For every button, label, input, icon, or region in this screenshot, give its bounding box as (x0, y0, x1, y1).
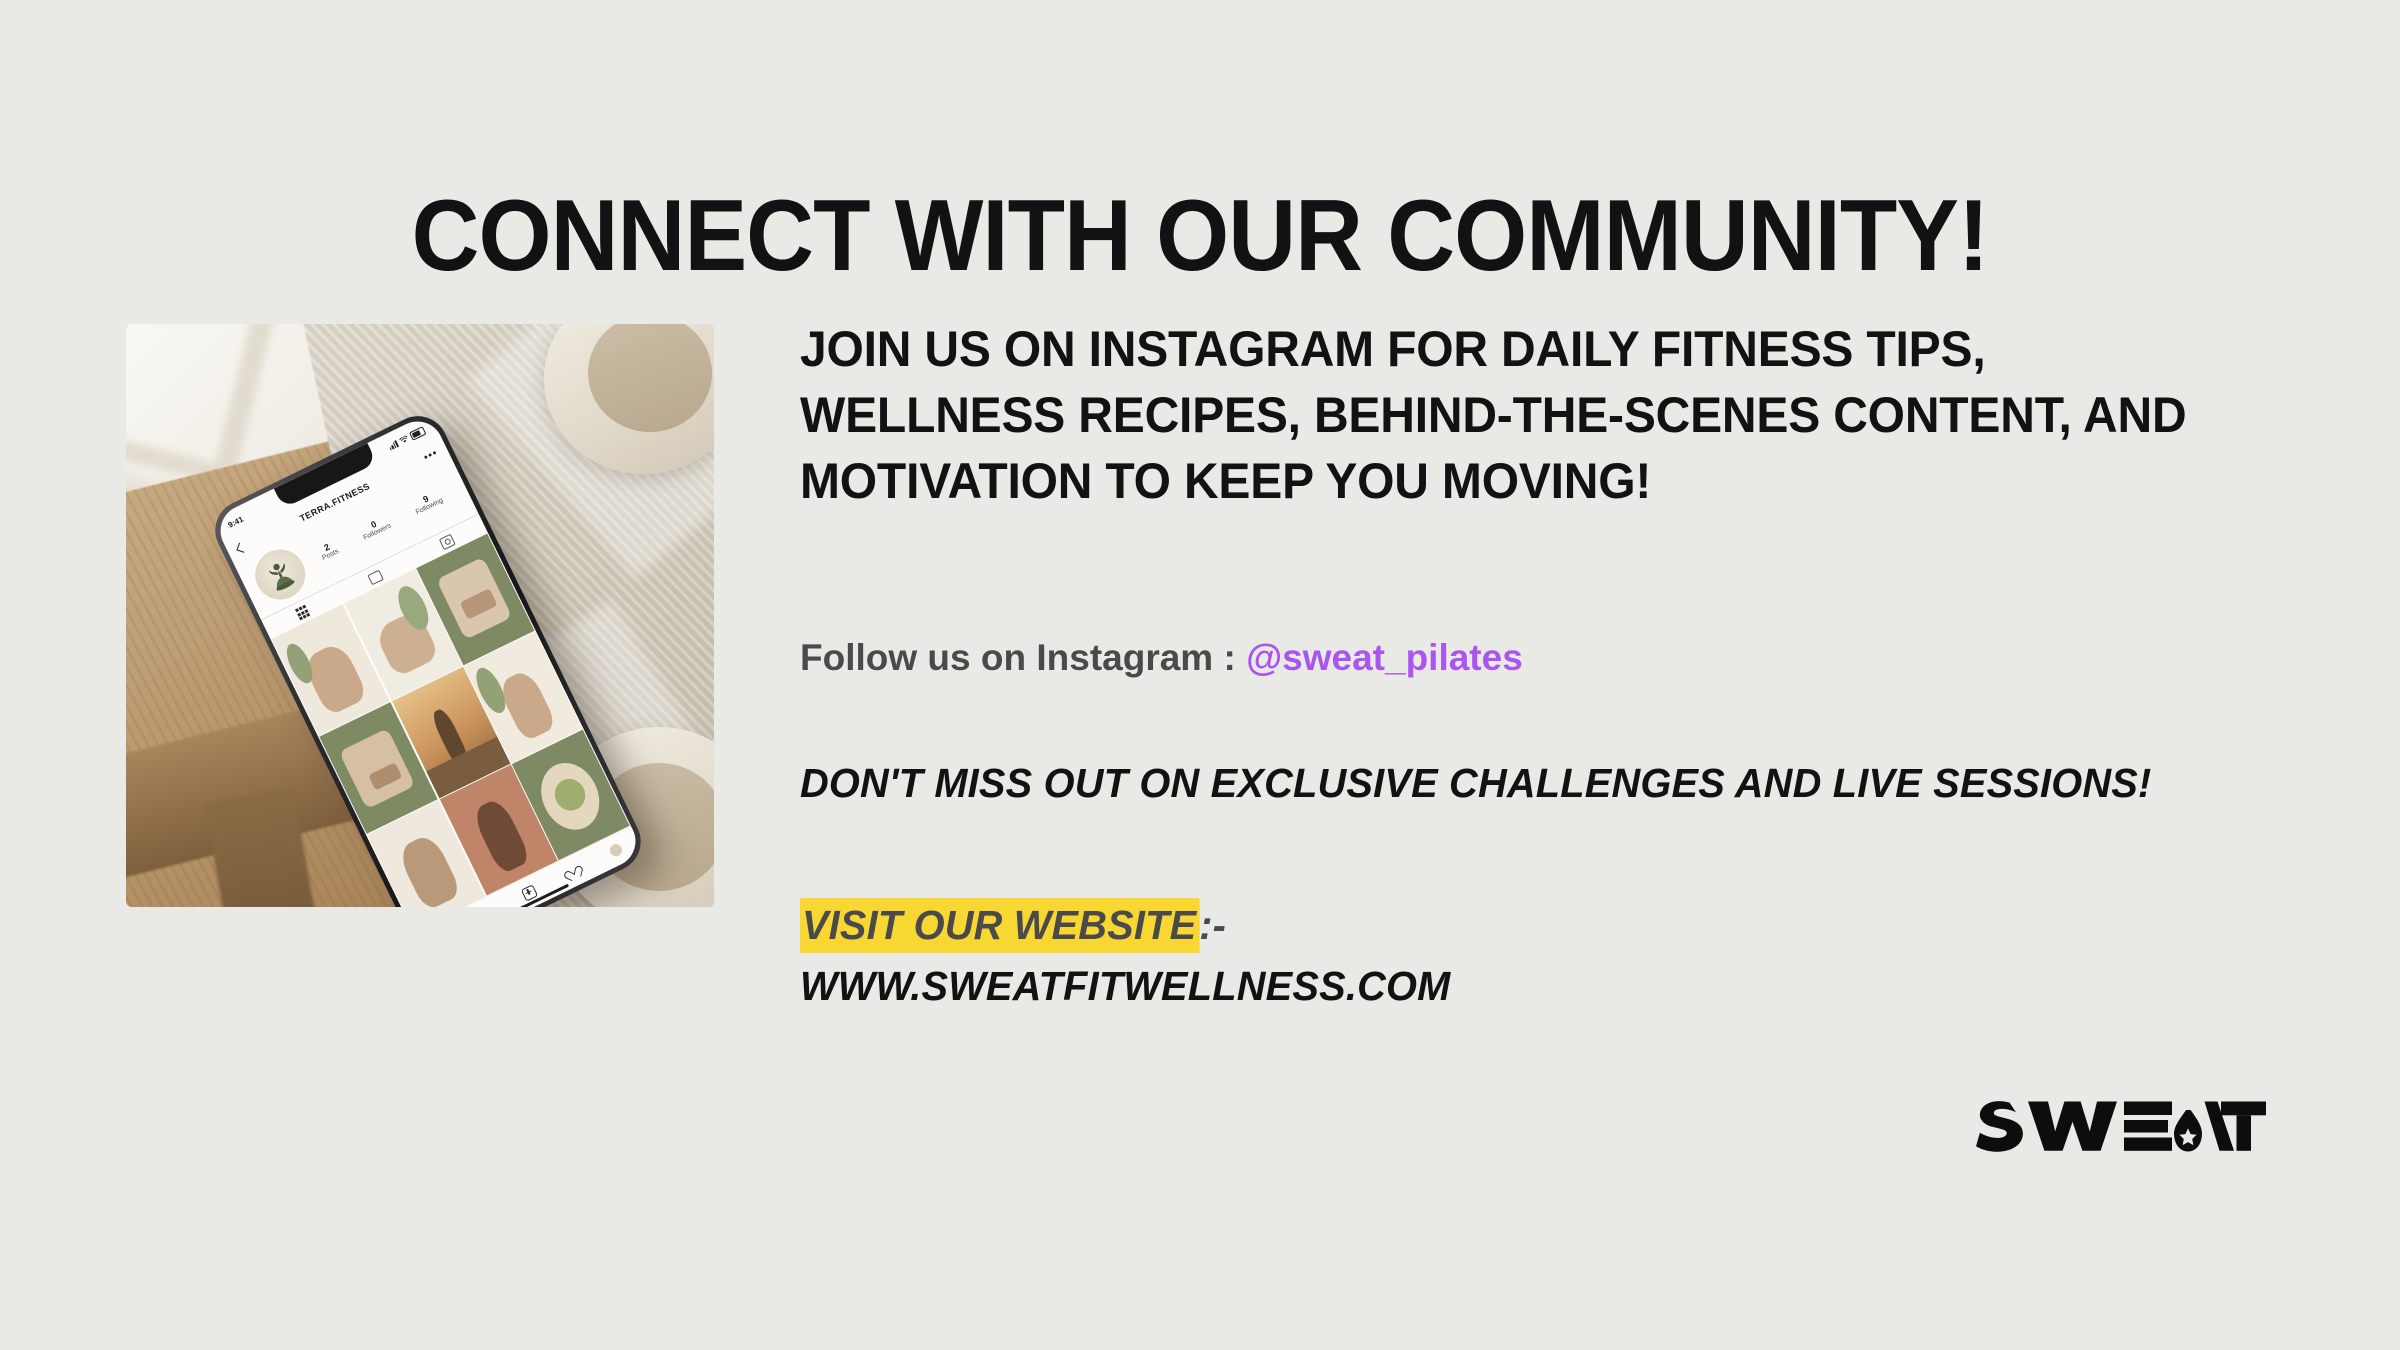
tagline: DON'T MISS OUT ON EXCLUSIVE CHALLENGES A… (800, 754, 2177, 812)
activity-heart-icon[interactable] (565, 864, 581, 879)
stat-followers: 0 Followers (358, 513, 393, 543)
search-icon[interactable] (478, 905, 494, 907)
visit-website-label: VISIT OUR WEBSITE (800, 898, 1199, 953)
instagram-handle[interactable]: @sweat_pilates (1246, 637, 1523, 678)
photo-scene: 9:41 TERRA.FITN (126, 324, 714, 907)
yoga-pose-icon (262, 556, 299, 594)
slide-canvas: CONNECT WITH OUR COMMUNITY! (0, 0, 2400, 1350)
website-block: VISIT OUR WEBSITE:- WWW.SWEATFITWELLNESS… (800, 896, 1450, 1015)
battery-icon (409, 426, 426, 441)
reels-icon (367, 569, 384, 585)
copy-column: JOIN US ON INSTAGRAM FOR DAILY FITNESS T… (800, 316, 2300, 514)
tagged-icon (439, 534, 456, 550)
stat-following: 9 Following (410, 488, 445, 518)
profile-avatar-icon[interactable] (608, 842, 624, 858)
website-url[interactable]: WWW.SWEATFITWELLNESS.COM (800, 957, 1450, 1015)
grid-icon (295, 605, 310, 620)
visit-separator: :- (1199, 902, 1226, 948)
signal-icon (387, 440, 398, 450)
follow-prefix: Follow us on Instagram : (800, 637, 1246, 678)
follow-line: Follow us on Instagram : @sweat_pilates (800, 638, 1523, 679)
back-chevron-icon[interactable] (236, 543, 246, 553)
mug-interior (588, 324, 712, 432)
instagram-phone-photo: 9:41 TERRA.FITN (126, 324, 714, 907)
sweat-logo (1976, 1100, 2266, 1162)
wifi-icon (398, 434, 409, 444)
status-time: 9:41 (226, 514, 244, 529)
stat-posts: 2 Posts (317, 539, 341, 564)
page-title: CONNECT WITH OUR COMMUNITY! (84, 186, 2316, 287)
lede-paragraph: JOIN US ON INSTAGRAM FOR DAILY FITNESS T… (800, 316, 2221, 514)
